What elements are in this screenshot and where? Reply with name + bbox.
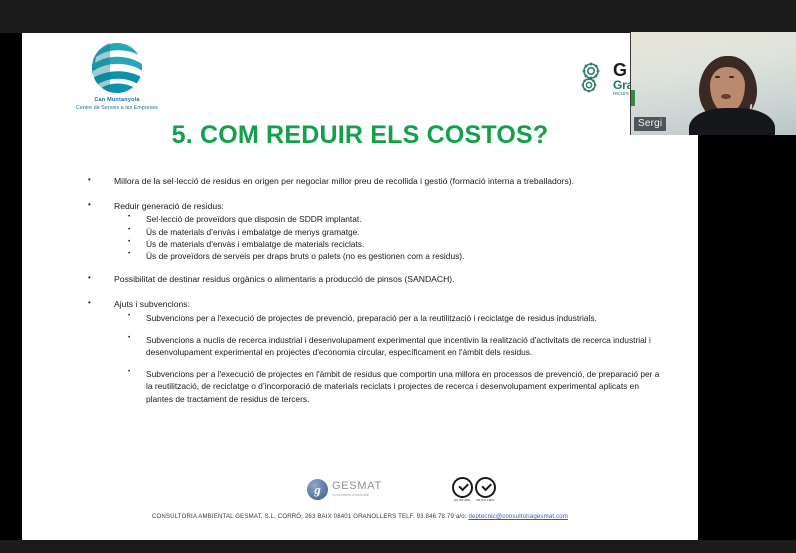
iso-check-icon xyxy=(475,477,496,498)
iso-badge: ES ISO 14001 xyxy=(475,477,496,502)
sub-bullet-item: Sel·lecció de proveïdors que disposin de… xyxy=(114,213,664,225)
participant-figure xyxy=(693,56,765,135)
bullet-text: Ajuts i subvencions: xyxy=(114,299,190,309)
right-eye-shape xyxy=(729,76,734,78)
face-shape xyxy=(710,67,745,112)
mouth-shape xyxy=(721,94,731,99)
slide-body: Millora de la sel·lecció de residus en o… xyxy=(84,175,664,416)
iso-badge: ES ISO 9001 xyxy=(452,477,473,502)
gears-icon xyxy=(580,61,610,95)
footer-email-link[interactable]: deptecnic@consultoriagesmat.com xyxy=(468,513,568,520)
video-participant-tile[interactable]: Sergi xyxy=(630,32,796,135)
granollers-logo: G Gra recurs xyxy=(580,61,633,98)
video-background-edge xyxy=(631,90,635,106)
bullet-text: Millora de la sel·lecció de residus en o… xyxy=(114,176,574,186)
slide-footer-logos: g GESMAT Consultoria Ambiental ES ISO 90… xyxy=(22,479,698,507)
sub-bullet-item: Subvencions per a l'execució de projecte… xyxy=(114,368,664,405)
gesmat-name: GESMAT xyxy=(332,481,382,492)
gesmat-logo-text: GESMAT Consultoria Ambiental xyxy=(332,481,382,497)
participant-name-label: Sergi xyxy=(634,117,666,131)
can-muntanyola-subtitle: Centre de Serveis a les Empreses xyxy=(57,105,177,112)
slide-title: 5. COM REDUIR ELS COSTOS? xyxy=(22,121,698,150)
iso-badge-label: ES ISO 14001 xyxy=(475,499,496,502)
bullet-list-level2: Sel·lecció de proveïdors que disposin de… xyxy=(114,213,664,262)
sub-bullet-text: Subvencions per a l'execució de projecte… xyxy=(146,313,597,323)
sub-bullet-text: Ús de materials d’envàs i embalatge de m… xyxy=(146,227,360,237)
sub-bullet-item: Ús de materials d’envàs i embalatge de m… xyxy=(114,238,664,250)
bullet-item: Possibilitat de destinar residus orgànic… xyxy=(84,273,664,285)
sub-bullet-item: Ús de materials d’envàs i embalatge de m… xyxy=(114,226,664,238)
sub-bullet-item: Subvencions per a l'execució de projecte… xyxy=(114,312,664,324)
letterbox-bottom xyxy=(0,540,796,553)
gesmat-tagline: Consultoria Ambiental xyxy=(332,493,382,497)
sub-bullet-text: Subvencions a nuclis de recerca industri… xyxy=(146,335,651,357)
can-muntanyola-name: Can Muntanyola xyxy=(57,97,177,105)
bullet-list-level2: Subvencions per a l'execució de projecte… xyxy=(114,312,664,405)
bullet-item: Millora de la sel·lecció de residus en o… xyxy=(84,175,664,187)
gesmat-logo: g GESMAT Consultoria Ambiental xyxy=(307,479,382,500)
iso-certification-badges: ES ISO 9001 ES ISO 14001 xyxy=(452,477,496,502)
bullet-list-level1: Millora de la sel·lecció de residus en o… xyxy=(84,175,664,405)
bullet-item: Ajuts i subvencions: Subvencions per a l… xyxy=(84,298,664,404)
iso-badge-label: ES ISO 9001 xyxy=(452,499,473,502)
can-muntanyola-logo-icon xyxy=(90,41,144,95)
bullet-text: Possibilitat de destinar residus orgànic… xyxy=(114,274,455,284)
torso-shape xyxy=(689,108,775,135)
iso-check-icon xyxy=(452,477,473,498)
bullet-item: Reduir generació de residus: Sel·lecció … xyxy=(84,200,664,262)
sub-bullet-text: Sel·lecció de proveïdors que disposin de… xyxy=(146,214,362,224)
sub-bullet-text: Ús de materials d’envàs i embalatge de m… xyxy=(146,239,364,249)
presentation-screen: Can Muntanyola Centre de Serveis a les E… xyxy=(0,0,796,553)
slide-footer-contact: CONSULTORIA AMBIENTAL GESMAT, S.L. CORRÓ… xyxy=(22,513,698,520)
can-muntanyola-logo: Can Muntanyola Centre de Serveis a les E… xyxy=(57,41,177,112)
slide-canvas: Can Muntanyola Centre de Serveis a les E… xyxy=(22,33,698,540)
sub-bullet-item: Subvencions a nuclis de recerca industri… xyxy=(114,334,664,358)
letterbox-left xyxy=(0,33,22,540)
gesmat-monogram-icon: g xyxy=(307,479,328,500)
sub-bullet-text: Subvencions per a l'execució de projecte… xyxy=(146,369,659,403)
sub-bullet-item: Ús de proveïdors de serveis per draps br… xyxy=(114,250,664,262)
sub-bullet-text: Ús de proveïdors de serveis per draps br… xyxy=(146,251,464,261)
footer-text: CONSULTORIA AMBIENTAL GESMAT, S.L. CORRÓ… xyxy=(152,513,468,520)
letterbox-top xyxy=(0,0,796,33)
left-eye-shape xyxy=(715,76,720,78)
bullet-text: Reduir generació de residus: xyxy=(114,201,224,211)
